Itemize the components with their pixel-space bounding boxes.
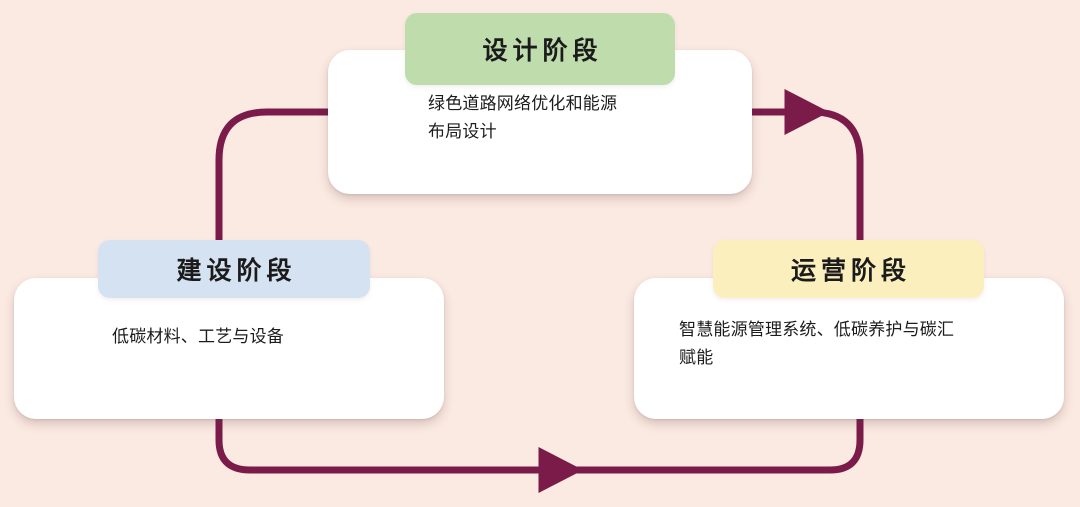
stage-card-construction[interactable]: 低碳材料、工艺与设备 (14, 278, 444, 419)
connector-operation-to-construction (219, 418, 860, 470)
stage-badge-operation[interactable]: 运营阶段 (713, 240, 984, 298)
stage-badge-design[interactable]: 设计阶段 (405, 13, 675, 85)
stage-badge-construction[interactable]: 建设阶段 (98, 240, 370, 298)
stage-body-construction: 低碳材料、工艺与设备 (112, 323, 432, 351)
diagram-canvas: 绿色道路网络优化和能源 布局设计 设计阶段 低碳材料、工艺与设备 建设阶段 智慧… (0, 0, 1080, 507)
stage-body-design: 绿色道路网络优化和能源 布局设计 (428, 90, 748, 145)
stage-card-operation[interactable]: 智慧能源管理系统、低碳养护与碳汇 赋能 (634, 278, 1064, 419)
stage-body-operation: 智慧能源管理系统、低碳养护与碳汇 赋能 (679, 316, 1034, 371)
